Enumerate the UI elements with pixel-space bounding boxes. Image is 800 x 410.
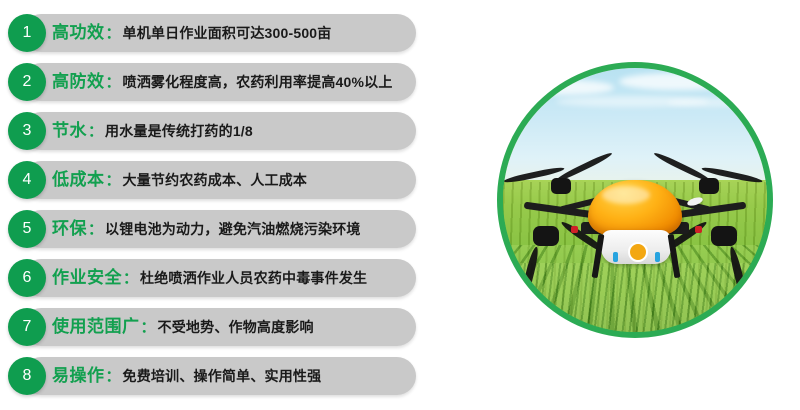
feature-description: 喷洒雾化程度高，农药利用率提高40%以上: [123, 74, 393, 90]
feature-text: 高功效：单机单日作业面积可达300-500亩: [52, 14, 332, 52]
feature-list: 1 高功效：单机单日作业面积可达300-500亩 2 高防效：喷洒雾化程度高，农…: [0, 0, 470, 410]
feature-number-badge: 5: [8, 210, 46, 248]
feature-colon: ：: [105, 74, 123, 91]
feature-title: 环保: [52, 219, 87, 238]
feature-title: 低成本: [52, 170, 105, 189]
feature-text: 作业安全：杜绝喷洒作业人员农药中毒事件发生: [52, 259, 367, 297]
feature-infographic-page: 1 高功效：单机单日作业面积可达300-500亩 2 高防效：喷洒雾化程度高，农…: [0, 0, 800, 410]
tank-cap: [628, 242, 648, 262]
feature-description: 杜绝喷洒作业人员农药中毒事件发生: [140, 270, 367, 286]
feature-text: 低成本：大量节约农药成本、人工成本: [52, 161, 307, 199]
feature-text: 环保：以锂电池为动力，避免汽油燃烧污染环境: [52, 210, 361, 248]
feature-description: 不受地势、作物高度影响: [158, 319, 314, 335]
feature-title: 易操作: [52, 366, 105, 385]
cloud: [667, 98, 757, 107]
feature-number-badge: 8: [8, 357, 46, 395]
cloud: [519, 80, 614, 95]
drone-motor: [711, 226, 737, 246]
feature-description: 用水量是传统打药的1/8: [105, 123, 253, 139]
feature-number-badge: 7: [8, 308, 46, 346]
feature-title: 高防效: [52, 72, 105, 91]
feature-title: 节水: [52, 121, 87, 140]
feature-number-badge: 4: [8, 161, 46, 199]
feature-colon: ：: [122, 270, 140, 287]
spray-nozzle: [655, 252, 660, 262]
feature-description: 以锂电池为动力，避免汽油燃烧污染环境: [105, 221, 361, 237]
spray-nozzle: [571, 226, 578, 233]
spray-nozzle: [695, 226, 702, 233]
feature-title: 高功效: [52, 23, 105, 42]
feature-number-badge: 2: [8, 63, 46, 101]
canopy-highlight: [602, 186, 650, 204]
spray-tank: [601, 230, 671, 264]
feature-text: 易操作：免费培训、操作简单、实用性强: [52, 357, 321, 395]
feature-colon: ：: [87, 123, 105, 140]
feature-number-badge: 3: [8, 112, 46, 150]
field-scene: [503, 68, 767, 332]
cloud: [619, 73, 735, 90]
feature-text: 高防效：喷洒雾化程度高，农药利用率提高40%以上: [52, 63, 393, 101]
drone-photo-circle: [497, 62, 773, 338]
feature-colon: ：: [105, 172, 123, 189]
feature-number-badge: 1: [8, 14, 46, 52]
drone-motor: [551, 178, 571, 194]
feature-colon: ：: [105, 25, 123, 42]
feature-text: 节水：用水量是传统打药的1/8: [52, 112, 253, 150]
feature-title: 作业安全: [52, 268, 122, 287]
feature-text: 使用范围广：不受地势、作物高度影响: [52, 308, 314, 346]
feature-colon: ：: [105, 368, 123, 385]
feature-description: 单机单日作业面积可达300-500亩: [123, 25, 332, 41]
feature-colon: ：: [140, 319, 158, 336]
feature-number-badge: 6: [8, 259, 46, 297]
drone-canopy: [588, 180, 682, 236]
feature-colon: ：: [87, 221, 105, 238]
feature-description: 大量节约农药成本、人工成本: [123, 172, 308, 188]
drone-icon: [509, 142, 761, 292]
drone-motor: [533, 226, 559, 246]
drone-motor: [699, 178, 719, 194]
feature-title: 使用范围广: [52, 317, 140, 336]
spray-nozzle: [613, 252, 618, 262]
feature-description: 免费培训、操作简单、实用性强: [123, 368, 322, 384]
